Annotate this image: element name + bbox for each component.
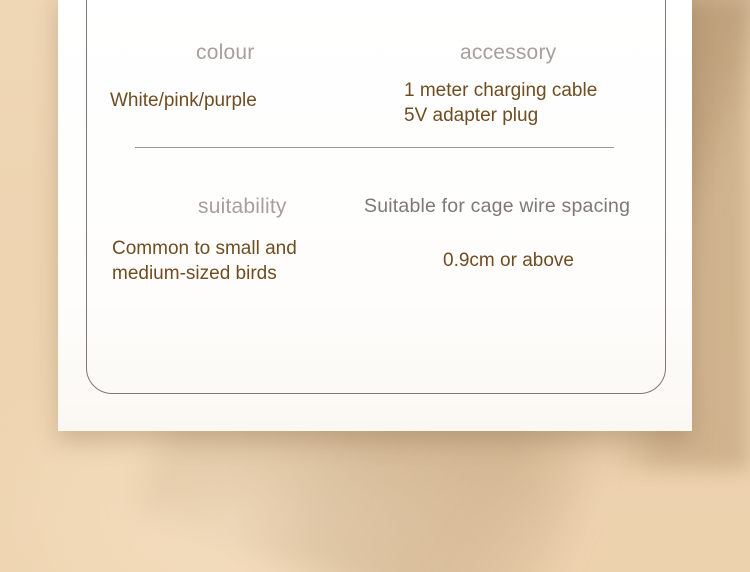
section-divider — [135, 147, 614, 148]
spec-value-cage-wire-spacing: 0.9cm or above — [443, 248, 574, 273]
spec-label-accessory: accessory — [460, 41, 556, 65]
spec-label-cage-wire-spacing: Suitable for cage wire spacing — [364, 195, 630, 218]
spec-label-colour: colour — [196, 41, 254, 65]
specification-content: colour White/pink/purple accessory 1 met… — [86, 0, 666, 400]
spec-label-suitability: suitability — [198, 195, 287, 219]
spec-value-suitability: Common to small and medium-sized birds — [112, 236, 297, 287]
spec-value-accessory: 1 meter charging cable 5V adapter plug — [404, 78, 597, 129]
product-spec-scene: colour White/pink/purple accessory 1 met… — [0, 0, 750, 572]
spec-value-colour: White/pink/purple — [110, 88, 257, 113]
